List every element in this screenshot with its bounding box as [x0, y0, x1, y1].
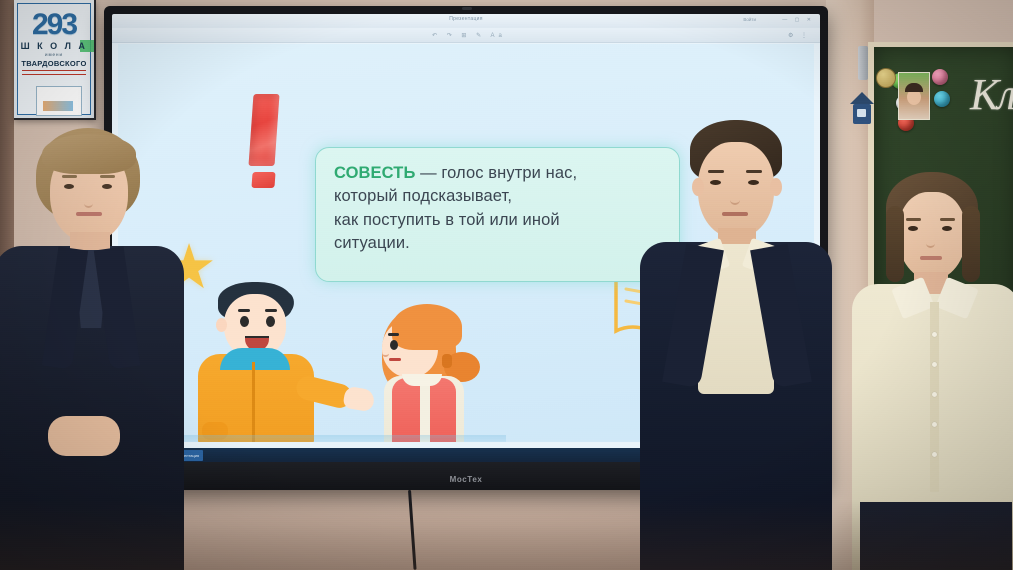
- poster-inner: 293 Ш К О Л А имени ТВАРДОВСКОГО: [17, 3, 91, 115]
- app-title: Презентация: [112, 16, 820, 22]
- definition-line-1: СОВЕСТЬ — голос внутри нас,: [334, 162, 661, 185]
- definition-line-4: ситуации.: [334, 232, 661, 255]
- school-logo-poster: 293 Ш К О Л А имени ТВАРДОВСКОГО: [14, 0, 96, 120]
- magnet: [932, 69, 948, 85]
- app-toolbar[interactable]: ↶ ↷ ⊞ ✎ Aa ⚙ ⋮: [112, 28, 820, 43]
- definition-card: СОВЕСТЬ — голос внутри нас, который подс…: [315, 147, 680, 282]
- poster-thumbnail: [36, 86, 82, 116]
- poster-school-word: Ш К О Л А: [18, 41, 90, 51]
- keyword-sovest: СОВЕСТЬ: [334, 164, 415, 182]
- children-illustration: [176, 270, 506, 442]
- webcam-icon: [462, 7, 472, 10]
- poster-rule-2: [22, 74, 86, 75]
- chalkboard-cursive-text: Кл: [970, 69, 1013, 120]
- poster-rule-1: [22, 70, 86, 71]
- board-clip: [858, 46, 868, 80]
- toolbar-tools-right[interactable]: ⚙ ⋮: [788, 32, 810, 39]
- classroom-photo: 293 Ш К О Л А имени ТВАРДОВСКОГО Презент…: [0, 0, 1013, 570]
- floor-shadow: [0, 500, 1013, 570]
- poster-named-after: имени: [18, 52, 90, 57]
- poster-school-name: ТВАРДОВСКОГО: [18, 59, 90, 68]
- window-controls[interactable]: — ▢ ✕: [782, 17, 814, 23]
- magnet: [934, 91, 950, 107]
- app-titlebar: Презентация Войти — ▢ ✕: [112, 14, 820, 29]
- account-label[interactable]: Войти: [743, 17, 756, 22]
- definition-line-2: который подсказывает,: [334, 185, 661, 208]
- exclamation-mark-icon: [249, 94, 279, 186]
- poster-school-number: 293: [18, 10, 90, 40]
- definition-rest-1: — голос внутри нас,: [415, 164, 577, 182]
- house-ornament-icon: [850, 92, 874, 126]
- definition-line-3: как поступить в той или иной: [334, 209, 661, 232]
- board-badge-icon: [876, 68, 896, 88]
- toolbar-tools[interactable]: ↶ ↷ ⊞ ✎ Aa: [432, 32, 506, 39]
- student-photo-card: [898, 72, 930, 120]
